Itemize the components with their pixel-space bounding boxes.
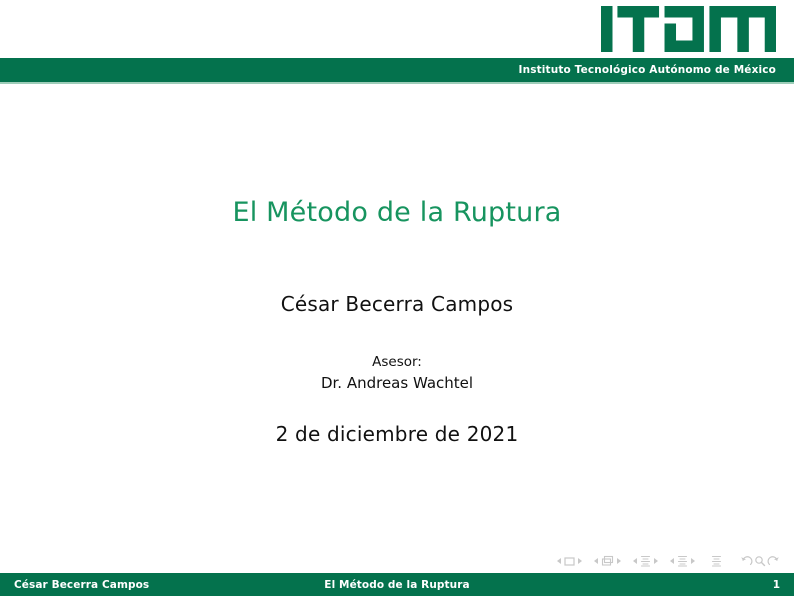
section-nav-group[interactable]: [670, 555, 695, 567]
triangle-right-icon[interactable]: [617, 558, 621, 564]
frame-nav-group[interactable]: [594, 555, 621, 567]
advisor-label: Asesor:: [0, 352, 794, 373]
triangle-left-icon[interactable]: [557, 558, 561, 564]
page-title: El Método de la Ruptura: [0, 197, 794, 228]
date-block: 2 de diciembre de 2021: [0, 422, 794, 446]
document-icon[interactable]: [711, 555, 722, 567]
forward-arrow-icon[interactable]: [767, 555, 780, 567]
triangle-left-icon[interactable]: [594, 558, 598, 564]
presentation-date: 2 de diciembre de 2021: [0, 422, 794, 446]
advisor-name: Dr. Andreas Wachtel: [0, 373, 794, 395]
title-block: El Método de la Ruptura: [0, 197, 794, 228]
institution-banner: Instituto Tecnológico Autónomo de México: [0, 58, 794, 82]
advisor-block: Asesor: Dr. Andreas Wachtel: [0, 352, 794, 395]
history-nav-group[interactable]: [740, 555, 780, 567]
frames-stack-icon[interactable]: [601, 555, 614, 567]
slide-body: El Método de la Ruptura César Becerra Ca…: [0, 84, 794, 546]
page-number: 1: [773, 573, 780, 596]
magnifier-icon[interactable]: [754, 555, 766, 567]
triangle-left-icon[interactable]: [633, 558, 637, 564]
author-block: César Becerra Campos: [0, 292, 794, 316]
slide-nav-group[interactable]: [557, 556, 582, 567]
subsection-nav-group[interactable]: [633, 555, 658, 567]
triangle-left-icon[interactable]: [670, 558, 674, 564]
header: [0, 0, 794, 58]
footer-bar: César Becerra Campos El Método de la Rup…: [0, 573, 794, 596]
triangle-right-icon[interactable]: [691, 558, 695, 564]
footer-author: César Becerra Campos: [14, 573, 149, 596]
back-arrow-icon[interactable]: [740, 555, 753, 567]
author-name: César Becerra Campos: [0, 292, 794, 316]
beamer-navigation-bar[interactable]: [557, 552, 780, 570]
triangle-right-icon[interactable]: [654, 558, 658, 564]
frame-icon[interactable]: [564, 556, 575, 567]
itam-logo: [601, 6, 776, 52]
section-icon[interactable]: [677, 555, 688, 567]
institution-name: Instituto Tecnológico Autónomo de México: [519, 64, 776, 76]
subsection-icon[interactable]: [640, 555, 651, 567]
triangle-right-icon[interactable]: [578, 558, 582, 564]
